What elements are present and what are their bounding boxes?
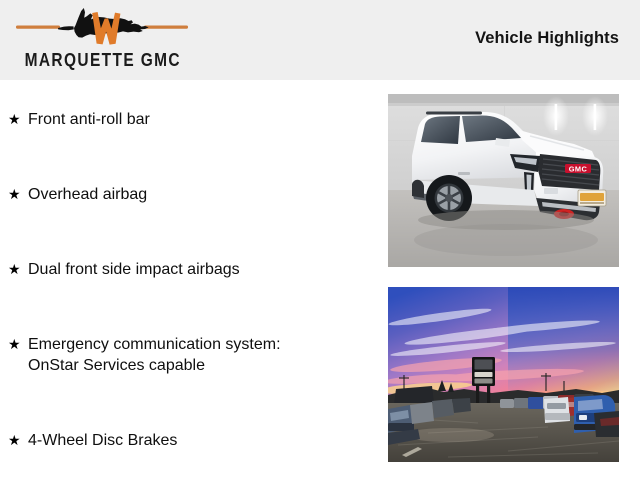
feature-label: Overhead airbag xyxy=(28,184,358,205)
star-bullet-icon: ★ xyxy=(8,109,28,129)
page-title: Vehicle Highlights xyxy=(475,29,619,48)
list-item: ★ Emergency communication system: OnStar… xyxy=(8,334,358,376)
list-item: ★ Dual front side impact airbags xyxy=(8,259,358,280)
list-item: ★ Overhead airbag xyxy=(8,184,358,205)
page-header: MARQUETTE GMC Vehicle Highlights xyxy=(0,0,640,80)
star-bullet-icon: ★ xyxy=(8,430,28,450)
feature-label: Front anti-roll bar xyxy=(28,109,358,130)
dealer-wordmark: MARQUETTE GMC xyxy=(25,50,180,71)
vehicle-highlights-list: ★ Front anti-roll bar ★ Overhead airbag … xyxy=(0,80,370,480)
dealer-logo[interactable]: MARQUETTE GMC xyxy=(12,4,192,76)
svg-text:GMC: GMC xyxy=(569,165,588,174)
feature-label: Emergency communication system: OnStar S… xyxy=(28,334,358,376)
list-item: ★ Front anti-roll bar xyxy=(8,109,358,130)
feature-label: Dual front side impact airbags xyxy=(28,259,358,280)
dealership-lot-graphic xyxy=(388,287,619,462)
feature-label: 4-Wheel Disc Brakes xyxy=(28,430,358,451)
upper-peninsula-silhouette-with-m-icon xyxy=(12,4,192,52)
list-item: ★ 4-Wheel Disc Brakes xyxy=(8,430,358,451)
star-bullet-icon: ★ xyxy=(8,259,28,279)
dealership-lot-photo[interactable] xyxy=(388,287,619,462)
star-bullet-icon: ★ xyxy=(8,184,28,204)
star-bullet-icon: ★ xyxy=(8,334,28,354)
vehicle-photo-graphic: GMC xyxy=(388,94,619,267)
vehicle-photo[interactable]: GMC xyxy=(388,94,619,267)
